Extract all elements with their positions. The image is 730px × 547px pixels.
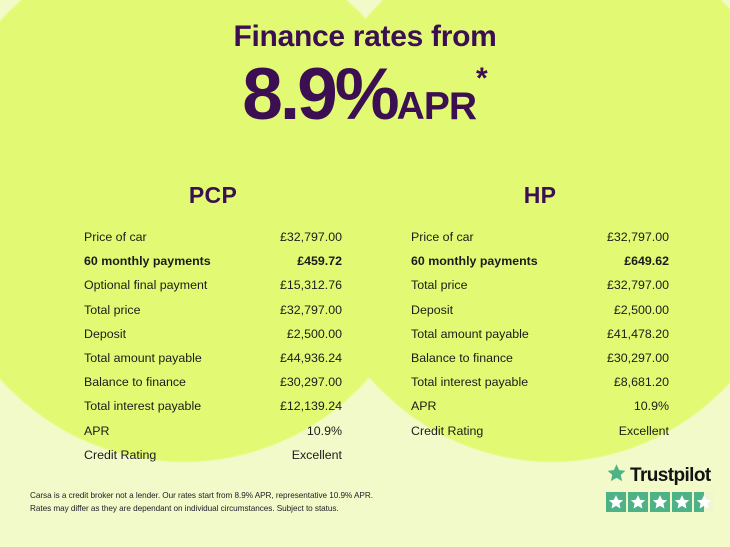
trustpilot-star-row xyxy=(606,492,718,512)
table-row: Balance to finance £30,297.00 xyxy=(411,346,669,370)
row-value: £44,936.24 xyxy=(257,346,342,370)
row-label: Total interest payable xyxy=(411,370,584,394)
table-row: 60 monthly payments £649.62 xyxy=(411,249,669,273)
row-value: £12,139.24 xyxy=(257,394,342,418)
row-value: £41,478.20 xyxy=(584,322,669,346)
row-label: Price of car xyxy=(411,225,584,249)
apr-rate-value: 8.9% xyxy=(242,54,396,135)
page-title: Finance rates from xyxy=(0,20,730,54)
row-label: Credit Rating xyxy=(84,443,257,467)
rating-star-icon xyxy=(650,492,670,512)
table-row: Total amount payable £44,936.24 xyxy=(84,346,342,370)
row-label: Total price xyxy=(411,273,584,297)
rating-star-icon xyxy=(672,492,692,512)
plan-title-hp: HP xyxy=(411,182,669,209)
table-row: APR 10.9% xyxy=(411,394,669,418)
row-value: Excellent xyxy=(257,443,342,467)
row-value: Excellent xyxy=(584,419,669,443)
row-label: APR xyxy=(411,394,584,418)
table-row: Total interest payable £12,139.24 xyxy=(84,394,342,418)
row-value: £32,797.00 xyxy=(257,225,342,249)
trustpilot-brand: Trustpilot xyxy=(606,464,718,486)
row-value: £15,312.76 xyxy=(257,273,342,297)
table-row: Total price £32,797.00 xyxy=(411,273,669,297)
row-label: 60 monthly payments xyxy=(411,249,584,273)
plan-card-hp: HP Price of car £32,797.00 60 monthly pa… xyxy=(411,182,669,443)
promo-content: Finance rates from 8.9%APR* PCP Price of… xyxy=(0,0,730,547)
table-row: Deposit £2,500.00 xyxy=(411,298,669,322)
trustpilot-star-icon xyxy=(606,463,627,488)
disclaimer-line-1: Carsa is a credit broker not a lender. O… xyxy=(30,489,373,502)
row-label: Optional final payment xyxy=(84,273,257,297)
table-row: 60 monthly payments £459.72 xyxy=(84,249,342,273)
table-row: Balance to finance £30,297.00 xyxy=(84,370,342,394)
row-label: Deposit xyxy=(411,298,584,322)
row-value: 10.9% xyxy=(584,394,669,418)
row-label: Deposit xyxy=(84,322,257,346)
plan-table-body-hp: Price of car £32,797.00 60 monthly payme… xyxy=(411,225,669,443)
apr-unit-label: APR xyxy=(397,85,476,128)
trustpilot-rating[interactable]: Trustpilot xyxy=(606,464,718,512)
apr-asterisk: * xyxy=(476,62,488,95)
apr-headline: 8.9%APR* xyxy=(0,58,730,131)
row-value: £32,797.00 xyxy=(584,225,669,249)
rating-star-half-icon xyxy=(694,492,714,512)
promo-canvas: Finance rates from 8.9%APR* PCP Price of… xyxy=(0,0,730,547)
rating-star-icon xyxy=(628,492,648,512)
row-value: £2,500.00 xyxy=(584,298,669,322)
table-row: Price of car £32,797.00 xyxy=(411,225,669,249)
table-row: Optional final payment £15,312.76 xyxy=(84,273,342,297)
row-label: APR xyxy=(84,419,257,443)
row-label: Balance to finance xyxy=(84,370,257,394)
table-row: Deposit £2,500.00 xyxy=(84,322,342,346)
table-row: Total interest payable £8,681.20 xyxy=(411,370,669,394)
plan-table-pcp: Price of car £32,797.00 60 monthly payme… xyxy=(84,225,342,467)
row-label: Credit Rating xyxy=(411,419,584,443)
plan-card-pcp: PCP Price of car £32,797.00 60 monthly p… xyxy=(84,182,342,467)
row-value: £459.72 xyxy=(257,249,342,273)
row-value: £8,681.20 xyxy=(584,370,669,394)
row-label: Total amount payable xyxy=(84,346,257,370)
row-value: £2,500.00 xyxy=(257,322,342,346)
row-value: 10.9% xyxy=(257,419,342,443)
row-label: Price of car xyxy=(84,225,257,249)
row-value: £649.62 xyxy=(584,249,669,273)
disclaimer-line-2: Rates may differ as they are dependant o… xyxy=(30,502,373,515)
table-row: Credit Rating Excellent xyxy=(84,443,342,467)
plan-title-pcp: PCP xyxy=(84,182,342,209)
row-value: £32,797.00 xyxy=(257,298,342,322)
rating-star-icon xyxy=(606,492,626,512)
table-row: APR 10.9% xyxy=(84,419,342,443)
row-label: 60 monthly payments xyxy=(84,249,257,273)
plan-table-hp: Price of car £32,797.00 60 monthly payme… xyxy=(411,225,669,443)
row-label: Balance to finance xyxy=(411,346,584,370)
trustpilot-wordmark: Trustpilot xyxy=(630,466,711,485)
row-label: Total price xyxy=(84,298,257,322)
row-label: Total amount payable xyxy=(411,322,584,346)
row-value: £32,797.00 xyxy=(584,273,669,297)
legal-disclaimer: Carsa is a credit broker not a lender. O… xyxy=(30,489,373,516)
row-value: £30,297.00 xyxy=(257,370,342,394)
table-row: Total amount payable £41,478.20 xyxy=(411,322,669,346)
table-row: Total price £32,797.00 xyxy=(84,298,342,322)
table-row: Credit Rating Excellent xyxy=(411,419,669,443)
row-label: Total interest payable xyxy=(84,394,257,418)
table-row: Price of car £32,797.00 xyxy=(84,225,342,249)
plan-table-body-pcp: Price of car £32,797.00 60 monthly payme… xyxy=(84,225,342,467)
row-value: £30,297.00 xyxy=(584,346,669,370)
